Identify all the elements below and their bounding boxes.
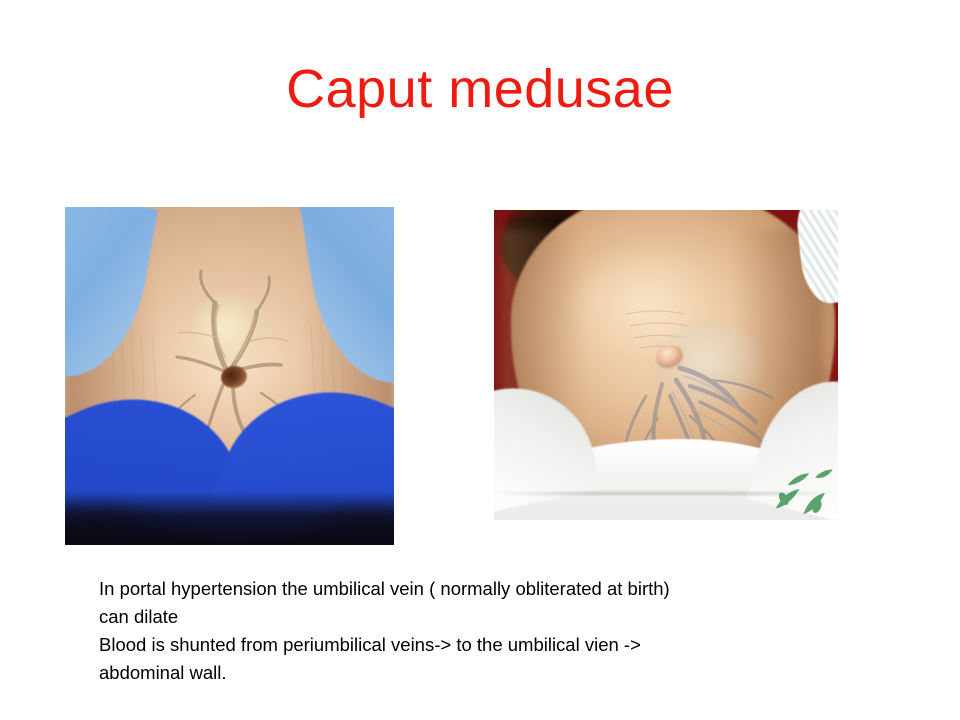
abdomen-dilated-veins-photo (65, 207, 394, 545)
garment-green-pattern (766, 452, 835, 520)
body-line-1: In portal hypertension the umbilical vei… (99, 575, 889, 603)
distended-abdomen-umbilical-hernia-photo (494, 210, 838, 520)
body-line-2: can dilate (99, 603, 889, 631)
page-title: Caput medusae (0, 58, 960, 120)
body-text: In portal hypertension the umbilical vei… (99, 575, 889, 687)
shadow-bottom-band (65, 491, 394, 545)
slide-canvas: Caput medusae (0, 0, 960, 720)
body-line-3: Blood is shunted from periumbilical vein… (99, 631, 889, 659)
body-line-4: abdominal wall. (99, 659, 889, 687)
